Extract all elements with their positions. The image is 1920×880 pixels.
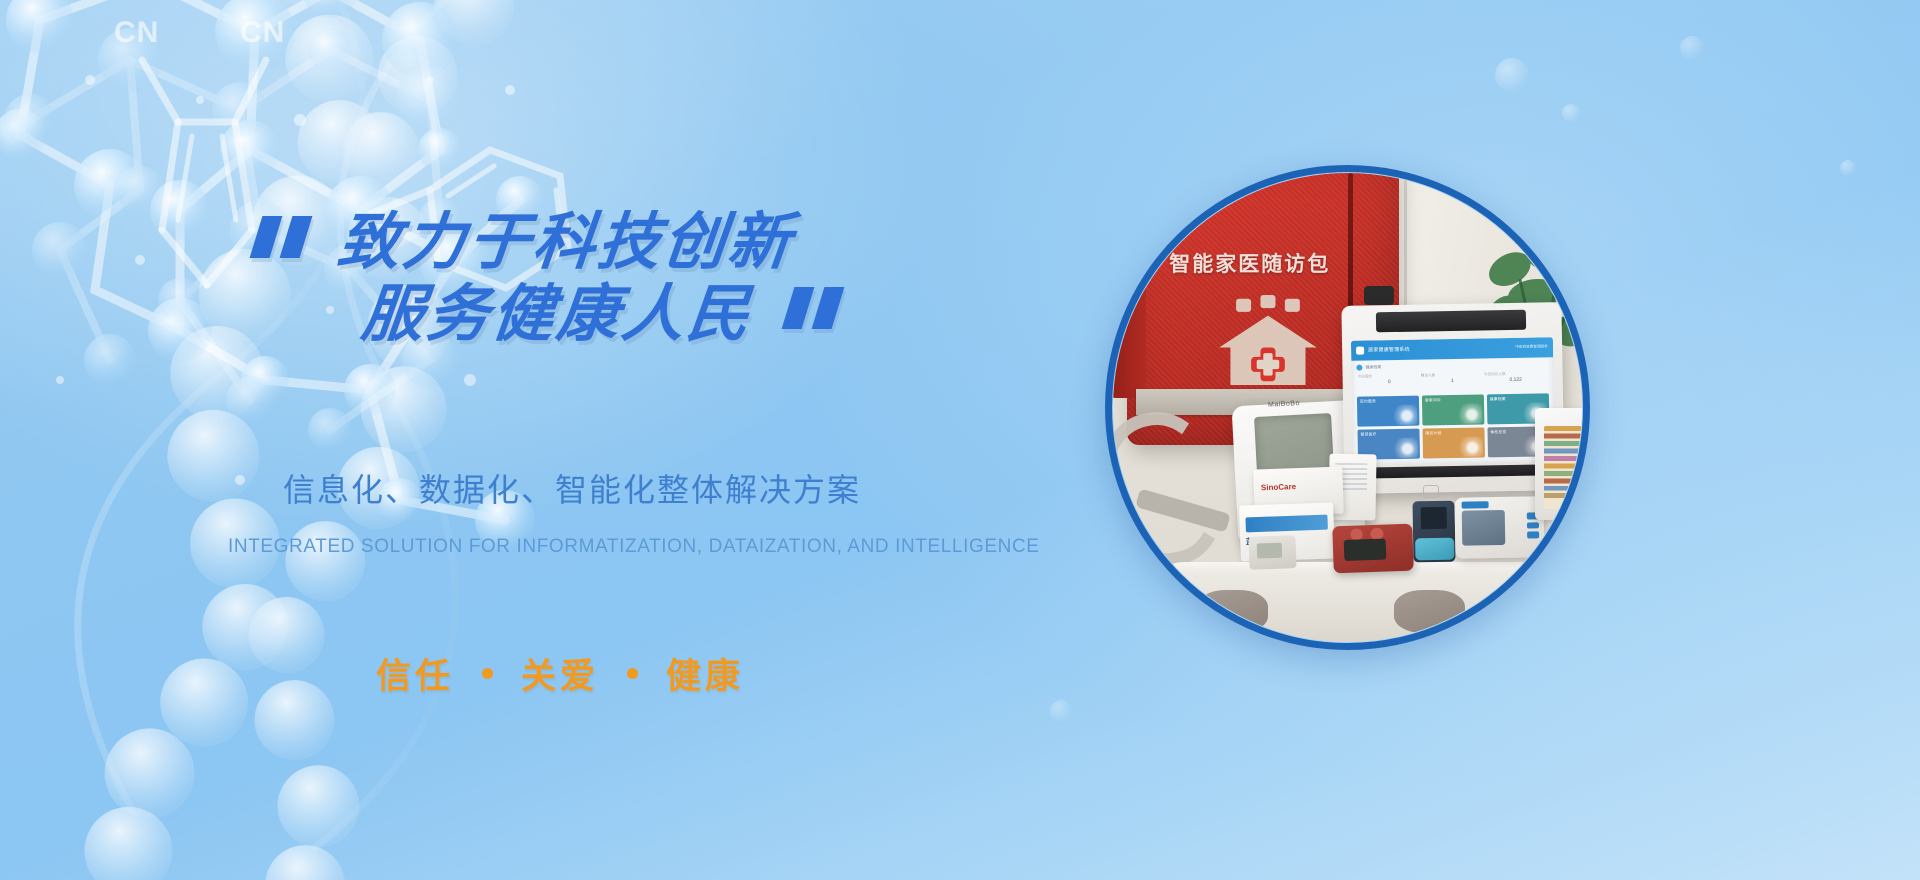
bokeh-dot xyxy=(1680,36,1704,60)
banner-content: 致力于科技创新 服务健康人民 信息化、数据化、智能化整体解决方案 INTEGRA… xyxy=(0,0,1080,880)
tagline-dot-separator xyxy=(482,668,493,679)
headline-line-2: 服务健康人民 xyxy=(359,282,756,348)
tagline-dot-separator xyxy=(627,668,638,679)
hero-banner: CN CN 致力于科技创新 服务健康人民 信息化、数据化、智能化整体解决方案 I… xyxy=(0,0,1920,880)
bokeh-dot xyxy=(1840,160,1856,176)
bokeh-dot xyxy=(1562,104,1580,122)
hero-photo: 智能家医随访包 xyxy=(1105,165,1590,650)
headline-line-2-row: 服务健康人民 xyxy=(362,282,1030,348)
headline-block: 致力于科技创新 服务健康人民 xyxy=(250,210,1030,347)
close-quote-mark xyxy=(782,287,844,329)
open-quote-mark xyxy=(250,216,312,258)
headline-line-1-row: 致力于科技创新 xyxy=(250,210,1030,276)
subtitle-chinese: 信息化、数据化、智能化整体解决方案 xyxy=(283,465,861,511)
tagline-word-health: 健康 xyxy=(666,648,744,699)
tagline-word-care: 关爱 xyxy=(521,648,599,699)
photo-circle-ring xyxy=(1105,165,1590,650)
bokeh-dot xyxy=(1495,58,1529,92)
headline-line-1: 致力于科技创新 xyxy=(335,210,797,276)
subtitle-english: INTEGRATED SOLUTION FOR INFORMATIZATION,… xyxy=(228,536,1040,558)
tagline-word-trust: 信任 xyxy=(376,648,454,699)
tagline-row: 信任 关爱 健康 xyxy=(376,648,744,699)
